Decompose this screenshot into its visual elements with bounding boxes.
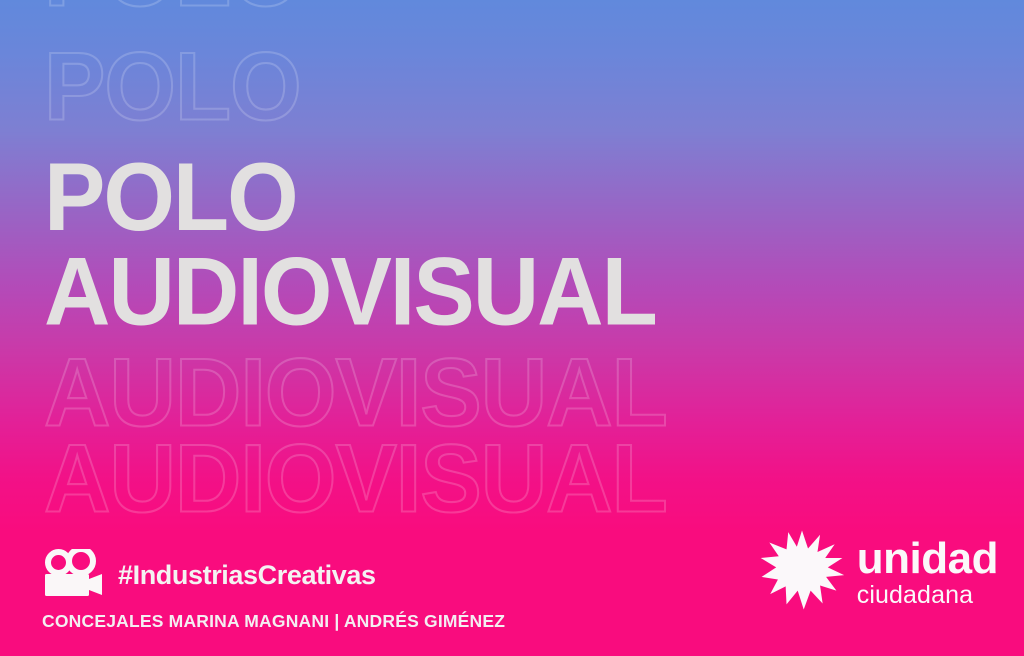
ghost-text-audiovisual-second: AUDIOVISUAL <box>44 434 667 526</box>
ghost-text-polo-top: POLO <box>44 0 301 20</box>
sunburst-icon <box>759 525 845 620</box>
title-line-polo: POLO <box>44 150 656 245</box>
brand-name-unidad: unidad <box>857 537 998 581</box>
movie-camera-icon <box>42 549 104 602</box>
brand-name-ciudadana: ciudadana <box>857 583 998 608</box>
footer-left-block: #IndustriasCreativas CONCEJALES MARINA M… <box>42 549 505 632</box>
brand-lockup: unidad ciudadana <box>759 525 998 620</box>
hashtag-row: #IndustriasCreativas <box>42 549 505 602</box>
hashtag-label: #IndustriasCreativas <box>118 560 376 591</box>
poster-canvas: POLO POLO AUDIOVISUAL AUDIOVISUAL POLO A… <box>0 0 1024 656</box>
title-line-audiovisual: AUDIOVISUAL <box>44 245 656 340</box>
ghost-text-audiovisual-first: AUDIOVISUAL <box>44 348 667 440</box>
ghost-text-polo-second: POLO <box>44 42 301 134</box>
credits-label: CONCEJALES MARINA MAGNANI | ANDRÉS GIMÉN… <box>42 611 505 632</box>
page-title: POLO AUDIOVISUAL <box>44 150 656 339</box>
brand-words: unidad ciudadana <box>857 537 998 608</box>
